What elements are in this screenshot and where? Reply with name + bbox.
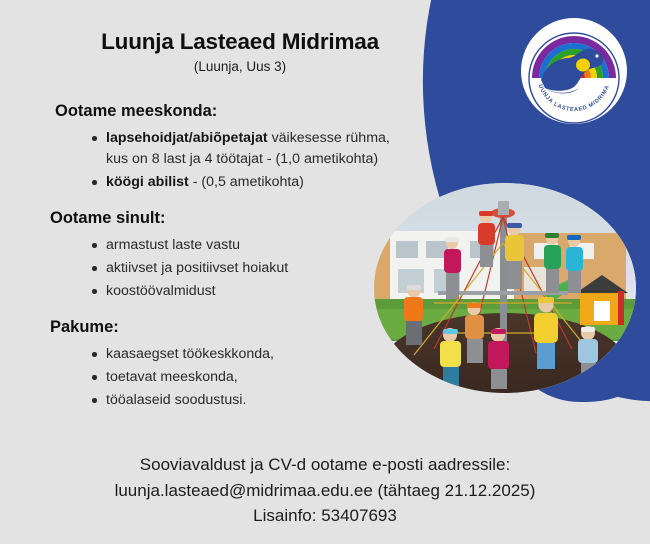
list-item: kaasaegset töökeskkonda, (92, 344, 440, 365)
section-we-offer: Pakume: kaasaegset töökeskkonda, toetava… (0, 318, 440, 411)
list-item-bold: köögi abilist (106, 174, 189, 190)
section-from-you: Ootame sinult: armastust laste vastu akt… (0, 209, 440, 302)
section-team: Ootame meeskonda: lapsehoidjat/abiõpetaj… (0, 102, 440, 193)
section-heading-we-offer: Pakume: (0, 318, 440, 337)
list-item-text: väikesesse rühma, (268, 130, 390, 146)
list-item: armastust laste vastu (92, 235, 440, 256)
list-item: koostöövalmidust (92, 281, 440, 302)
list-item-bold: lapsehoidjat/abiõpetajat (106, 130, 268, 146)
list-item-text: - (0,5 ametikohta) (189, 174, 304, 190)
footer-line-intro: Sooviavaldust ja CV-d ootame e-posti aad… (0, 452, 650, 478)
list-item: köögi abilist - (0,5 ametikohta) (92, 172, 440, 193)
footer-line-email[interactable]: luunja.lasteaed@midrimaa.edu.ee (tähtaeg… (0, 478, 650, 504)
list-item: aktiivset ja positiivset hoiakut (92, 258, 440, 279)
list-item: lapsehoidjat/abiõpetajat väikesesse rühm… (92, 128, 440, 170)
contact-footer: Sooviavaldust ja CV-d ootame e-posti aad… (0, 452, 650, 529)
advert-body: Ootame meeskonda: lapsehoidjat/abiõpetaj… (0, 102, 440, 413)
kindergarten-logo: LUUNJA LASTEAED MIDRIMAA (519, 16, 629, 126)
list-item: toetavat meeskonda, (92, 367, 440, 388)
job-advert-poster: LUUNJA LASTEAED MIDRIMAA Luunja Lasteaed… (0, 0, 650, 544)
page-subtitle: (Luunja, Uus 3) (0, 59, 480, 74)
footer-line-phone: Lisainfo: 53407693 (0, 503, 650, 529)
list-team: lapsehoidjat/abiõpetajat väikesesse rühm… (0, 128, 440, 193)
list-item-text-line2: kus on 8 last ja 4 töötajat - (1,0 ameti… (106, 151, 378, 167)
section-heading-team: Ootame meeskonda: (0, 102, 440, 121)
list-from-you: armastust laste vastu aktiivset ja posit… (0, 235, 440, 302)
list-item: tööalaseid soodustusi. (92, 390, 440, 411)
page-title: Luunja Lasteaed Midrimaa (0, 29, 480, 55)
list-we-offer: kaasaegset töökeskkonda, toetavat meesko… (0, 344, 440, 411)
section-heading-from-you: Ootame sinult: (0, 209, 440, 228)
